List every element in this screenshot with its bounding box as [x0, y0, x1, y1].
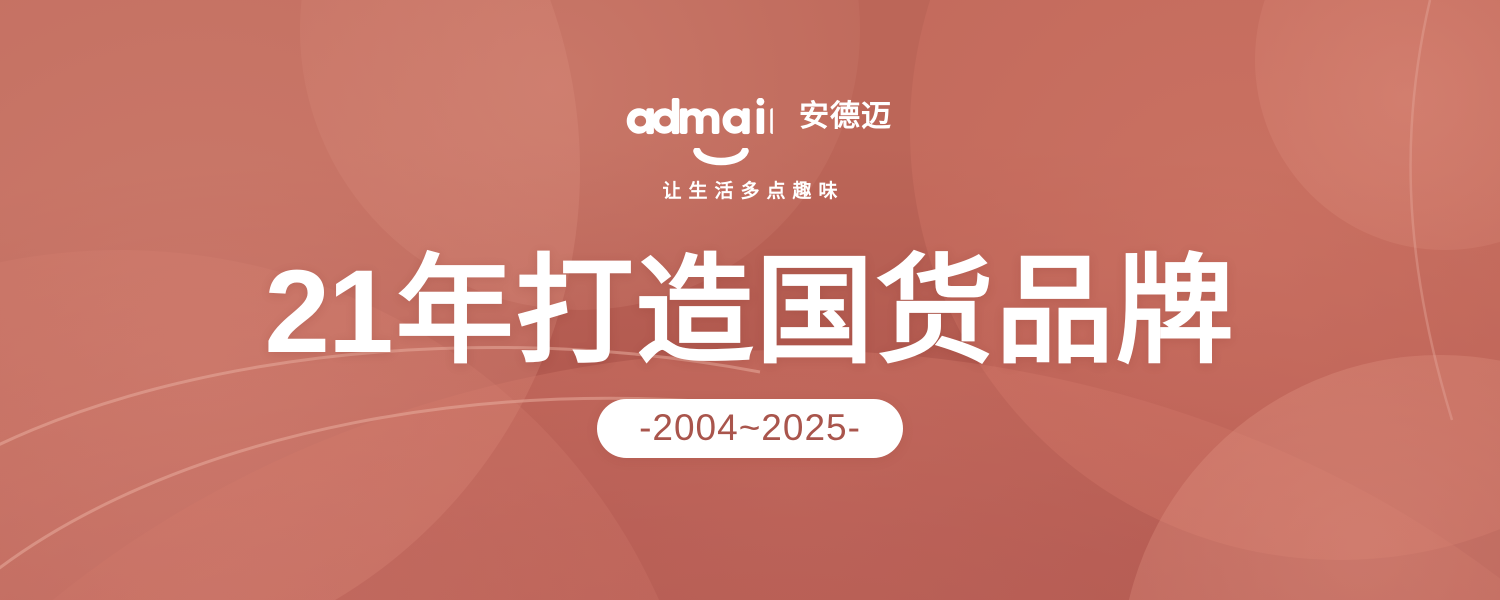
date-range-badge: -2004~2025-: [597, 399, 903, 458]
brand-tagline: 让生活多点趣味: [655, 182, 844, 201]
banner-content: 安德迈 让生活多点趣味 21年打造国货品牌 -2004~2025-: [0, 0, 1500, 600]
smile-curve-icon: [693, 148, 749, 170]
headline: 21年打造国货品牌: [264, 249, 1235, 375]
headline-text: 年打造国货品牌: [396, 242, 1236, 380]
brand-banner: 安德迈 让生活多点趣味 21年打造国货品牌 -2004~2025-: [0, 0, 1500, 600]
headline-number: 21: [264, 246, 391, 378]
cn-brand-name: 安德迈: [799, 102, 892, 132]
brand-logo-lockup: 安德迈: [608, 98, 892, 154]
admair-wordmark: [608, 98, 786, 144]
